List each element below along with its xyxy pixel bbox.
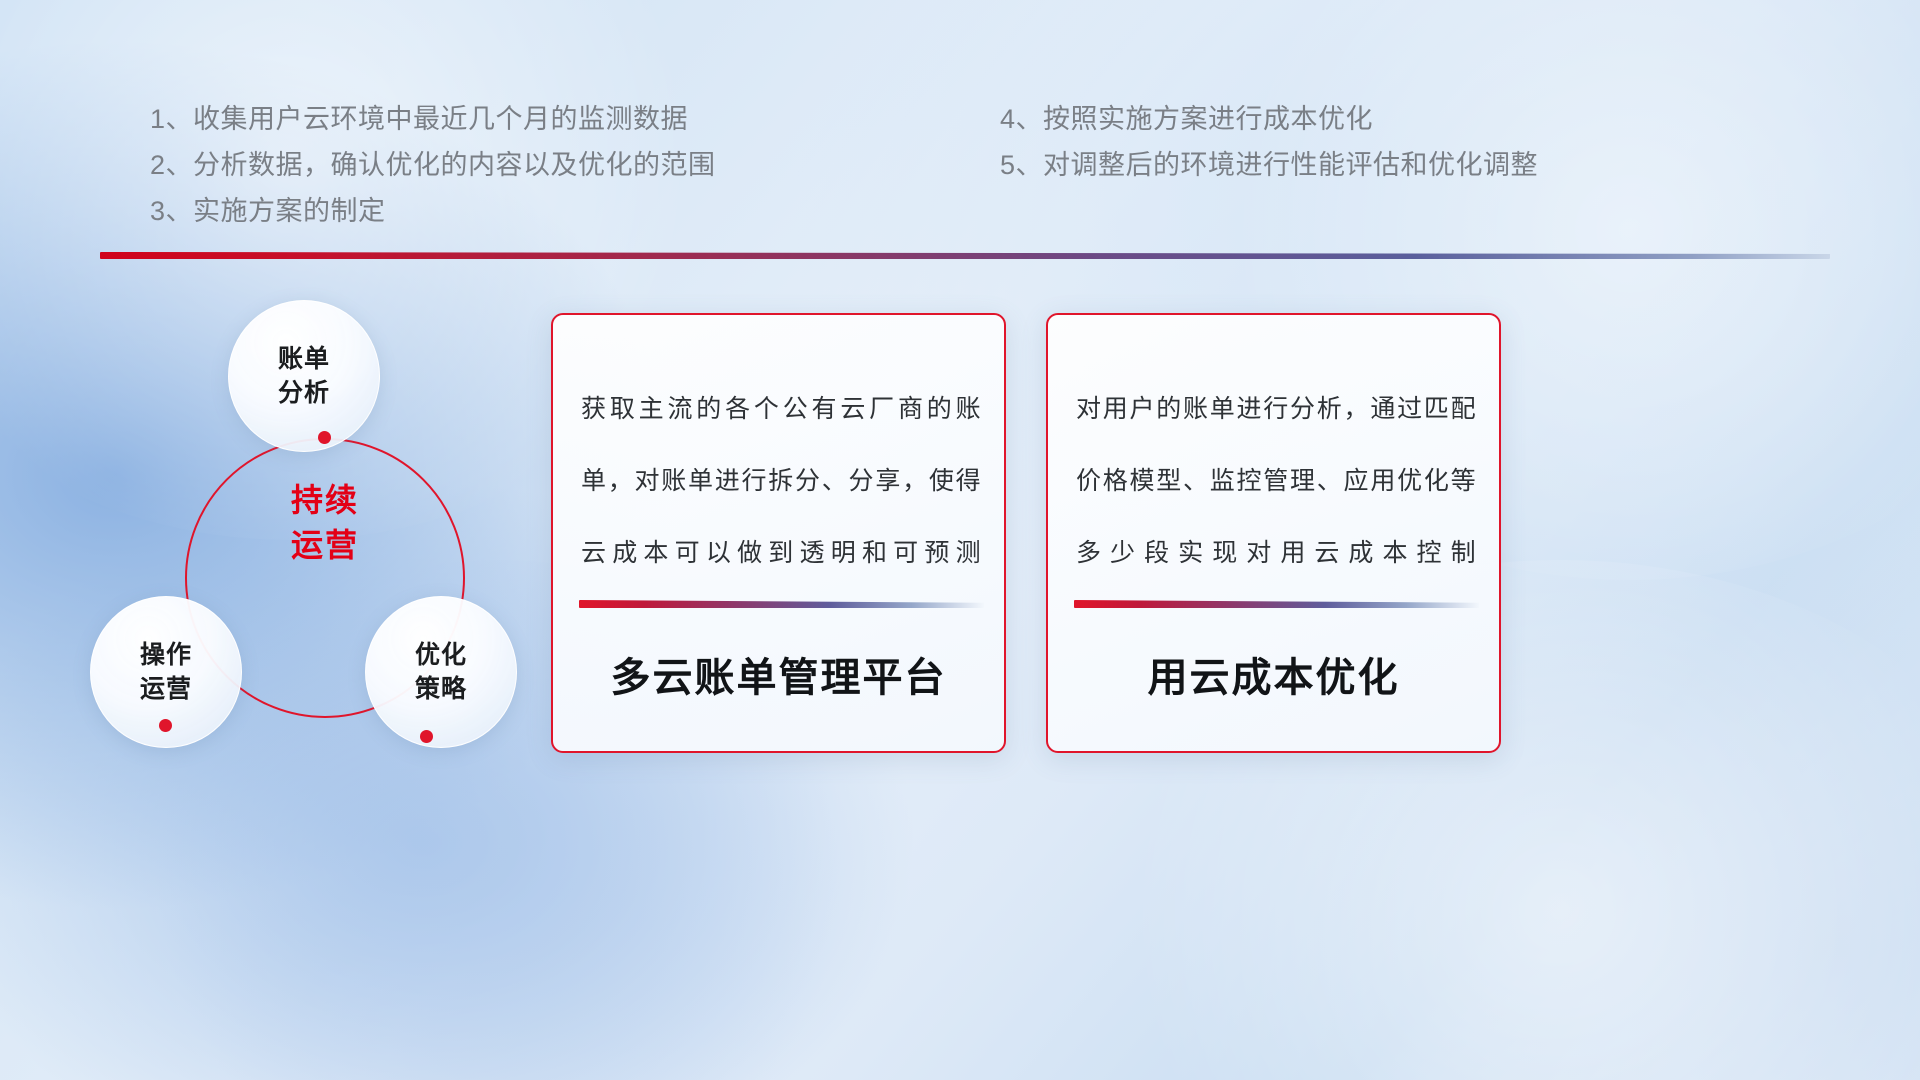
section-divider (100, 252, 1830, 262)
bubble-operation-line1: 操作 (140, 638, 192, 672)
diagram-center-label-line1: 持续 (185, 478, 465, 523)
card-cloud-cost-optimization[interactable]: 对用户的账单进行分析，通过匹配价格模型、监控管理、应用优化等多少段实现对用云成本… (1046, 313, 1501, 753)
bubble-optimization-strategy[interactable]: 优化 策略 (365, 596, 517, 748)
step-item-2: 2、分析数据，确认优化的内容以及优化的范围 (150, 142, 870, 188)
step-item-5: 5、对调整后的环境进行性能评估和优化调整 (1000, 142, 1760, 188)
steps-column-left: 1、收集用户云环境中最近几个月的监测数据 2、分析数据，确认优化的内容以及优化的… (150, 96, 870, 234)
bubble-billing-analysis-label: 账单 分析 (278, 342, 330, 410)
card-1-title: 多云账单管理平台 (553, 645, 1004, 703)
diagram-center-label: 持续 运营 (185, 478, 465, 568)
bubble-operation-line2: 运营 (140, 672, 192, 706)
steps-list: 1、收集用户云环境中最近几个月的监测数据 2、分析数据，确认优化的内容以及优化的… (150, 96, 1790, 256)
card-2-title: 用云成本优化 (1048, 645, 1499, 703)
bubble-optimization-strategy-line1: 优化 (415, 638, 467, 672)
step-item-1: 1、收集用户云环境中最近几个月的监测数据 (150, 96, 870, 142)
section-divider-bar (100, 252, 1830, 259)
card-1-body: 获取主流的各个公有云厂商的账单，对账单进行拆分、分享，使得云成本可以做到透明和可… (581, 373, 981, 589)
steps-column-right: 4、按照实施方案进行成本优化 5、对调整后的环境进行性能评估和优化调整 (1000, 96, 1760, 188)
card-2-divider (1074, 600, 1479, 608)
bubble-optimization-strategy-label: 优化 策略 (415, 638, 467, 706)
bubble-billing-analysis[interactable]: 账单 分析 (228, 300, 380, 452)
bubble-billing-analysis-line2: 分析 (278, 376, 330, 410)
node-dot-left-icon (159, 719, 172, 732)
bubble-optimization-strategy-line2: 策略 (415, 672, 467, 706)
step-item-4: 4、按照实施方案进行成本优化 (1000, 96, 1760, 142)
step-item-3: 3、实施方案的制定 (150, 188, 870, 234)
bubble-billing-analysis-line1: 账单 (278, 342, 330, 376)
continuous-operation-diagram: 持续 运营 账单 分析 操作 运营 优化 策略 (80, 288, 550, 778)
bubble-operation-label: 操作 运营 (140, 638, 192, 706)
node-dot-right-icon (420, 730, 433, 743)
diagram-center-label-line2: 运营 (185, 523, 465, 568)
node-dot-top-icon (318, 431, 331, 444)
card-1-divider (579, 600, 984, 608)
slide-canvas: 1、收集用户云环境中最近几个月的监测数据 2、分析数据，确认优化的内容以及优化的… (0, 0, 1920, 1080)
card-multi-cloud-billing-platform[interactable]: 获取主流的各个公有云厂商的账单，对账单进行拆分、分享，使得云成本可以做到透明和可… (551, 313, 1006, 753)
card-2-body: 对用户的账单进行分析，通过匹配价格模型、监控管理、应用优化等多少段实现对用云成本… (1076, 373, 1476, 589)
